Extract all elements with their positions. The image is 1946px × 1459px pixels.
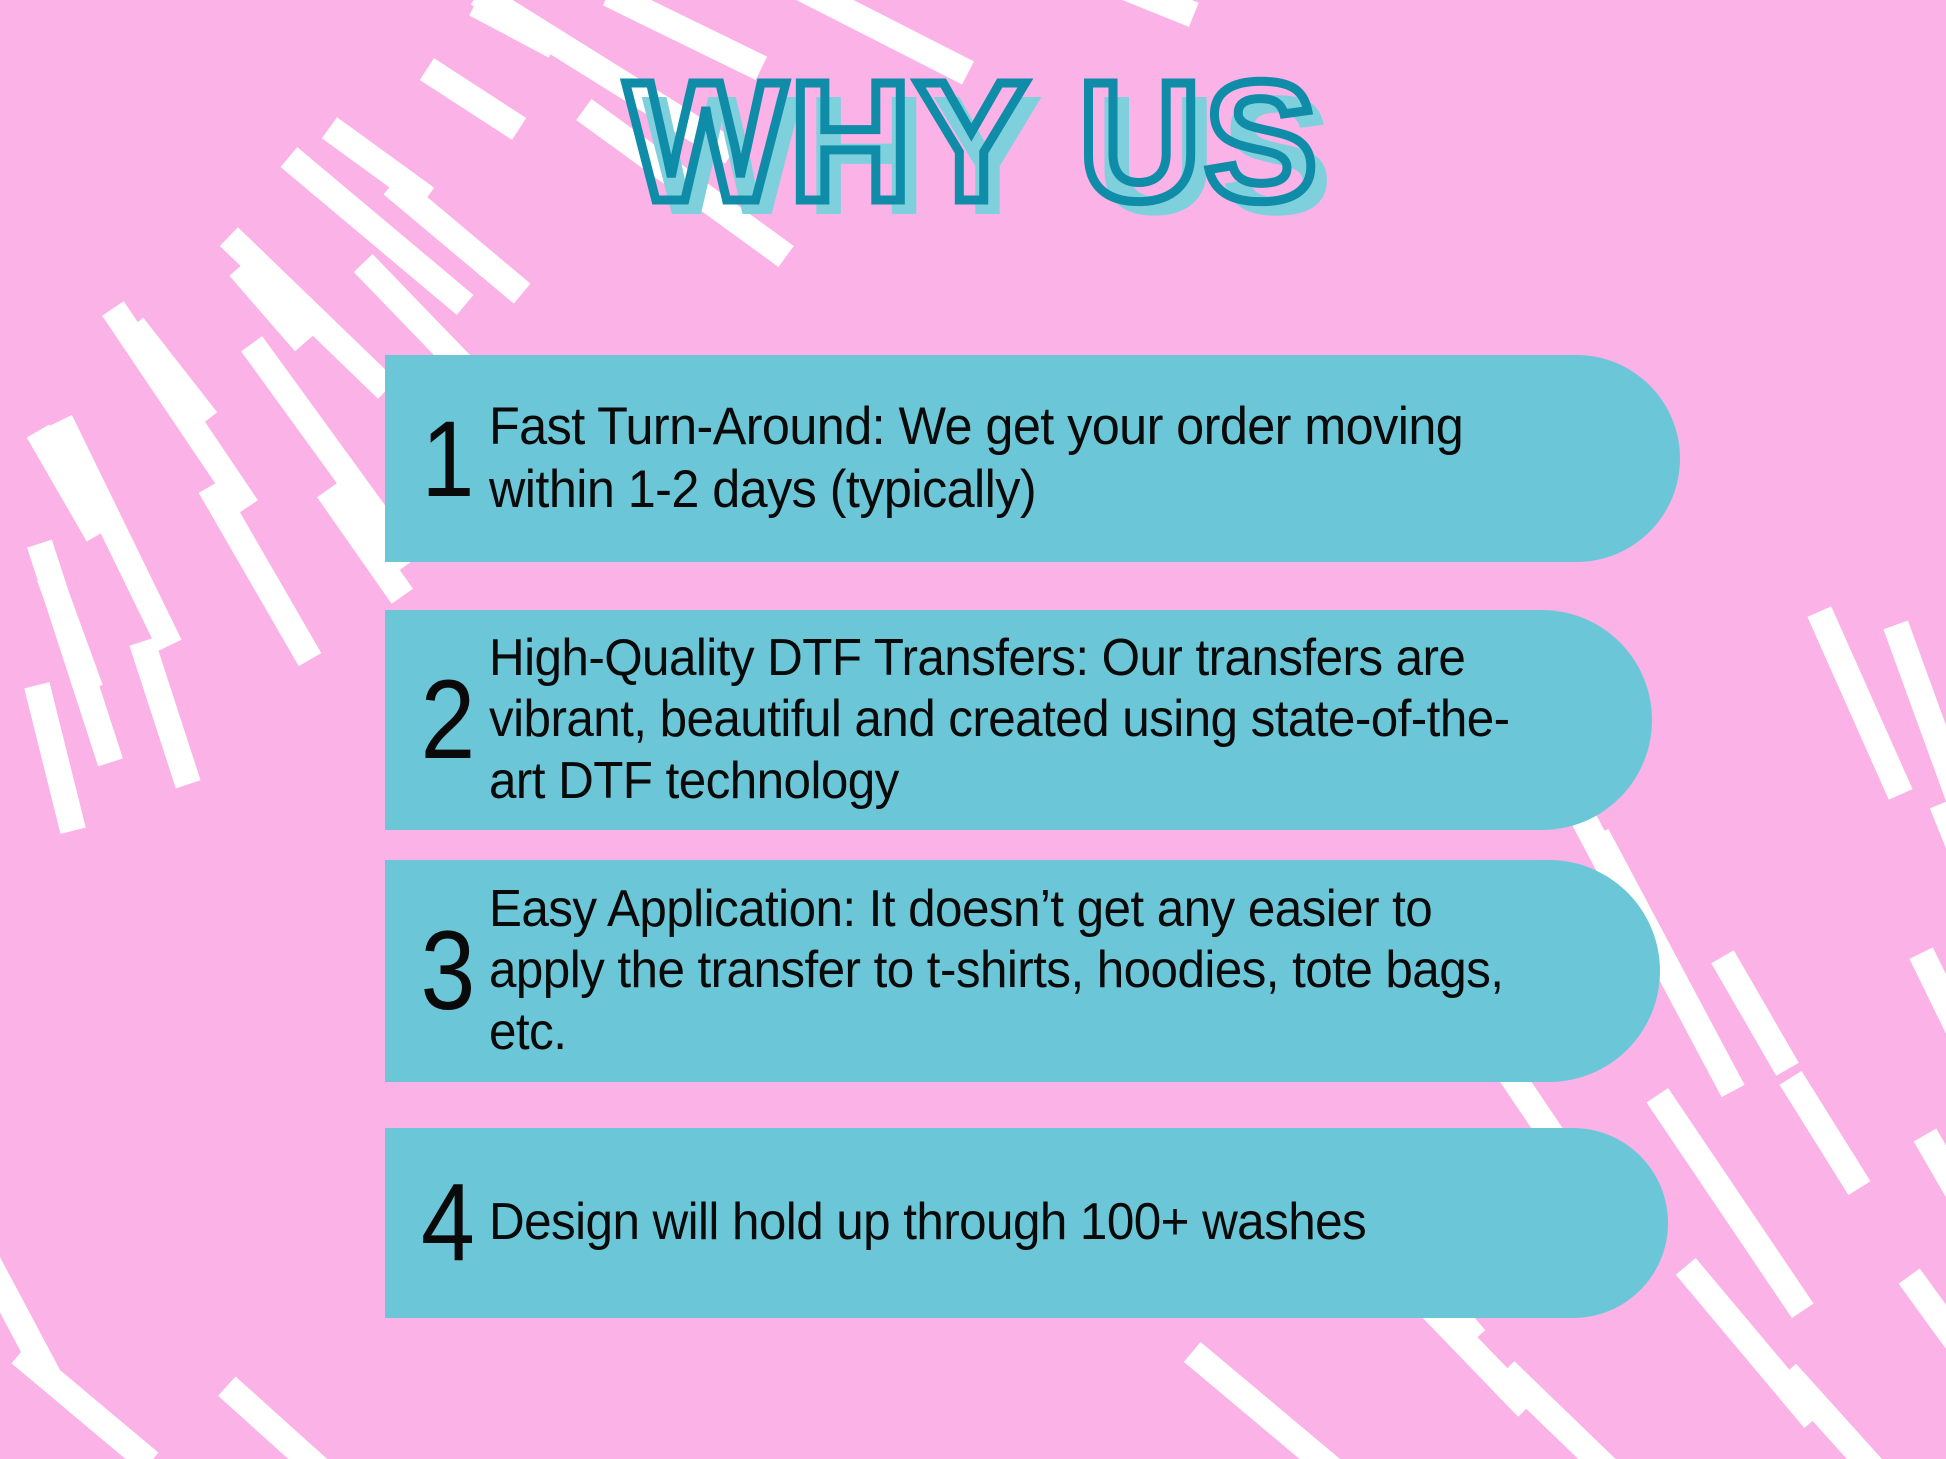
list-item-text: Design will hold up through 100+ washes — [489, 1192, 1609, 1253]
list-item-number: 1 — [410, 405, 484, 513]
list-item: 1 Fast Turn-Around: We get your order mo… — [385, 355, 1680, 562]
title-outline-layer: WHY US — [626, 48, 1321, 237]
list-item: 2 High-Quality DTF Transfers: Our transf… — [385, 610, 1652, 830]
list-item-number: 3 — [410, 915, 484, 1027]
list-item: 3 Easy Application: It doesn’t get any e… — [385, 860, 1660, 1082]
list-item-number: 4 — [410, 1168, 484, 1278]
benefits-list: 1 Fast Turn-Around: We get your order mo… — [385, 355, 1705, 1318]
list-item-text: High-Quality DTF Transfers: Our transfer… — [489, 628, 1594, 812]
why-us-poster: WHY US WHY US 1 Fast Turn-Around: We get… — [0, 0, 1946, 1459]
list-item-text: Easy Application: It doesn’t get any eas… — [489, 879, 1601, 1063]
title-why-us: WHY US WHY US — [563, 48, 1383, 238]
list-item: 4 Design will hold up through 100+ washe… — [385, 1128, 1668, 1318]
list-item-text: Fast Turn-Around: We get your order movi… — [489, 396, 1620, 521]
list-item-number: 2 — [410, 664, 484, 776]
page-title: WHY US WHY US — [0, 48, 1946, 238]
